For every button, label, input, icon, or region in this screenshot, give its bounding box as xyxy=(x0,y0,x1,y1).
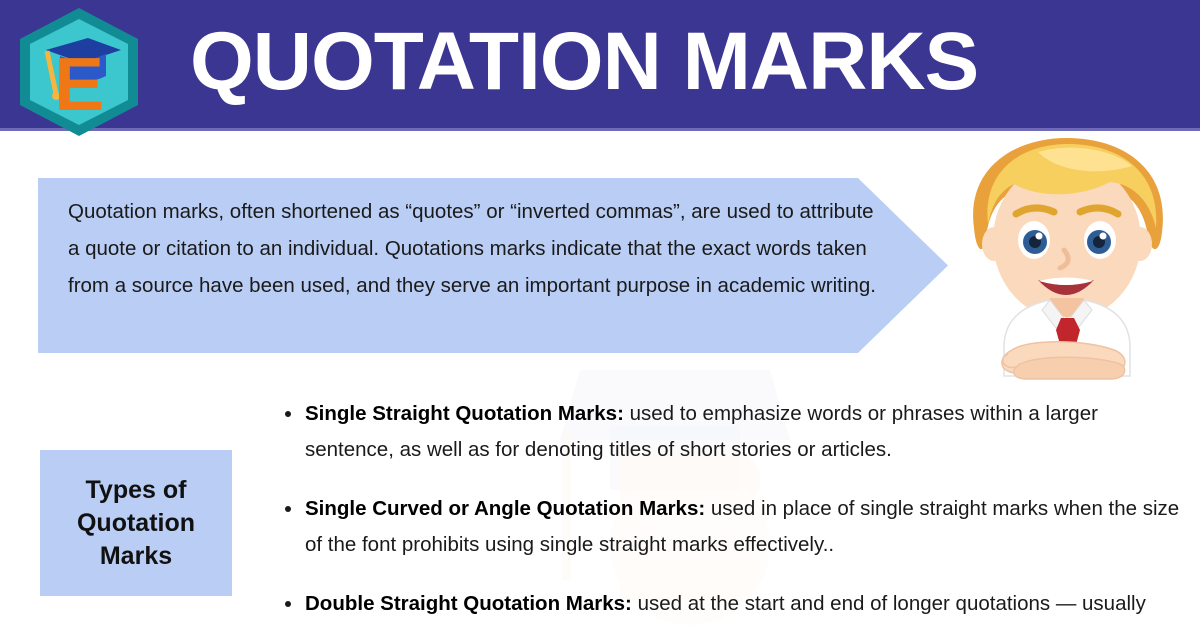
types-label-box: Types of Quotation Marks xyxy=(40,450,232,596)
intro-paragraph: Quotation marks, often shortened as “quo… xyxy=(68,193,878,304)
infographic-page: QUOTATION MARKS E Quotation marks, often… xyxy=(0,0,1200,628)
header-underline-divider xyxy=(0,128,1200,131)
page-title: QUOTATION MARKS xyxy=(190,0,1150,128)
cartoon-schoolboy-illustration xyxy=(938,132,1196,380)
bullet-icon xyxy=(285,506,291,512)
bullet-icon xyxy=(285,601,291,607)
list-item-term: Single Curved or Angle Quotation Marks: xyxy=(305,497,705,520)
bullet-icon xyxy=(285,411,291,417)
education-hexagon-logo[interactable]: E xyxy=(16,6,142,138)
list-item-term: Double Straight Quotation Marks: xyxy=(305,592,632,615)
quotation-types-list: Single Straight Quotation Marks: used to… xyxy=(272,396,1187,628)
list-item: Single Straight Quotation Marks: used to… xyxy=(272,396,1187,468)
list-item-term: Single Straight Quotation Marks: xyxy=(305,402,624,425)
logo-letter: E xyxy=(54,42,104,126)
list-item: Single Curved or Angle Quotation Marks: … xyxy=(272,491,1187,563)
list-item: Double Straight Quotation Marks: used at… xyxy=(272,586,1187,628)
types-label-text: Types of Quotation Marks xyxy=(40,474,232,573)
